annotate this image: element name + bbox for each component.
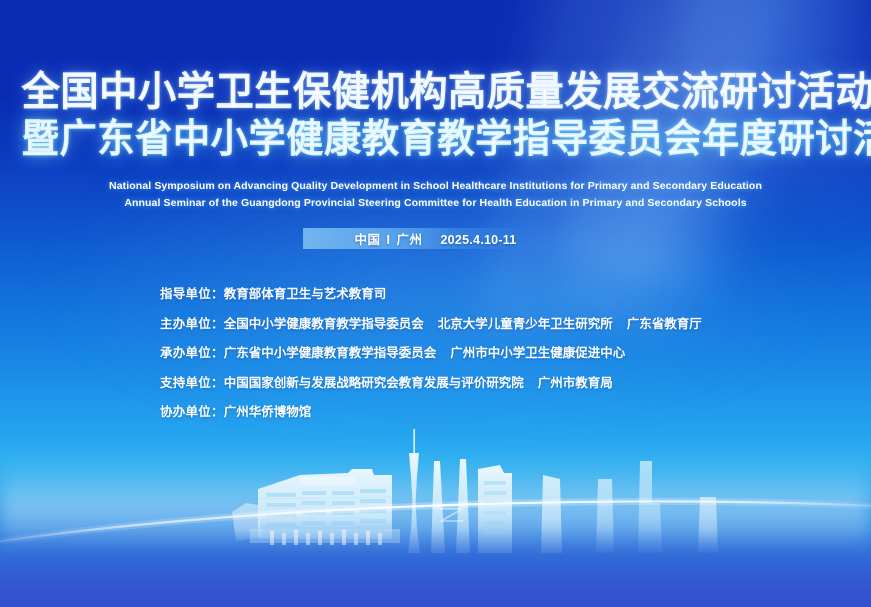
organization-row: 主办单位：全国中小学健康教育教学指导委员会北京大学儿童青少年卫生研究所广东省教育… [160,318,702,331]
organization-values: 广东省中小学健康教育教学指导委员会广州市中小学卫生健康促进中心 [224,347,626,360]
school-building [232,469,400,545]
organization-row: 协办单位：广州华侨博物馆 [160,406,702,419]
organization-label: 协办单位： [160,406,224,419]
organization-values: 广州华侨博物馆 [224,406,312,419]
english-title-line-1: National Symposium on Advancing Quality … [0,178,871,195]
canton-tower [408,429,420,553]
organization-row: 承办单位：广东省中小学健康教育教学指导委员会广州市中小学卫生健康促进中心 [160,347,702,360]
organization-label: 主办单位： [160,318,224,331]
organization-value: 全国中小学健康教育教学指导委员会 [224,318,424,331]
organization-label: 指导单位： [160,288,224,301]
organization-label: 承办单位： [160,347,224,360]
organization-value: 北京大学儿童青少年卫生研究所 [438,318,613,331]
city-skyline-illustration [0,417,871,607]
organization-value: 广东省教育厅 [627,318,702,331]
organization-value: 中国国家创新与发展战略研究会教育发展与评价研究院 [224,377,524,390]
organization-list: 指导单位：教育部体育卫生与艺术教育司主办单位：全国中小学健康教育教学指导委员会北… [160,288,702,436]
event-meta: 中国 I 广州 2025.4.10-11 [0,229,871,248]
light-ray-3 [473,0,688,336]
title-block: 全国中小学卫生保健机构高质量发展交流研讨活动 暨广东省中小学健康教育教学指导委员… [0,72,871,160]
bottom-fade-overlay [0,529,871,607]
page-title: 全国中小学卫生保健机构高质量发展交流研讨活动 [22,72,849,114]
organization-values: 中国国家创新与发展战略研究会教育发展与评价研究院广州市教育局 [224,377,613,390]
conference-poster: 全国中小学卫生保健机构高质量发展交流研讨活动 暨广东省中小学健康教育教学指导委员… [0,0,871,607]
page-subtitle: 暨广东省中小学健康教育教学指导委员会年度研讨活动 [22,120,849,161]
organization-value: 广州市教育局 [538,377,613,390]
organization-value: 广州市中小学卫生健康促进中心 [450,347,625,360]
english-title-line-2: Annual Seminar of the Guangdong Provinci… [0,195,871,212]
organization-value: 广东省中小学健康教育教学指导委员会 [224,347,437,360]
english-title-block: National Symposium on Advancing Quality … [0,178,871,212]
twin-towers [431,459,470,553]
right-towers [541,461,718,553]
meta-separator: I [385,233,393,247]
meta-date: 2025.4.10-11 [440,233,516,247]
organization-values: 全国中小学健康教育教学指导委员会北京大学儿童青少年卫生研究所广东省教育厅 [224,318,702,331]
stepped-tower [478,465,512,553]
light-arc [0,443,871,563]
ground-haze [0,459,871,549]
meta-country: 中国 [355,233,381,247]
organization-values: 教育部体育卫生与艺术教育司 [224,288,387,301]
organization-row: 指导单位：教育部体育卫生与艺术教育司 [160,288,702,301]
organization-row: 支持单位：中国国家创新与发展战略研究会教育发展与评价研究院广州市教育局 [160,377,702,390]
organization-value: 广州华侨博物馆 [224,406,312,419]
meta-city: 广州 [396,233,422,247]
organization-value: 教育部体育卫生与艺术教育司 [224,288,387,301]
organization-label: 支持单位： [160,377,224,390]
